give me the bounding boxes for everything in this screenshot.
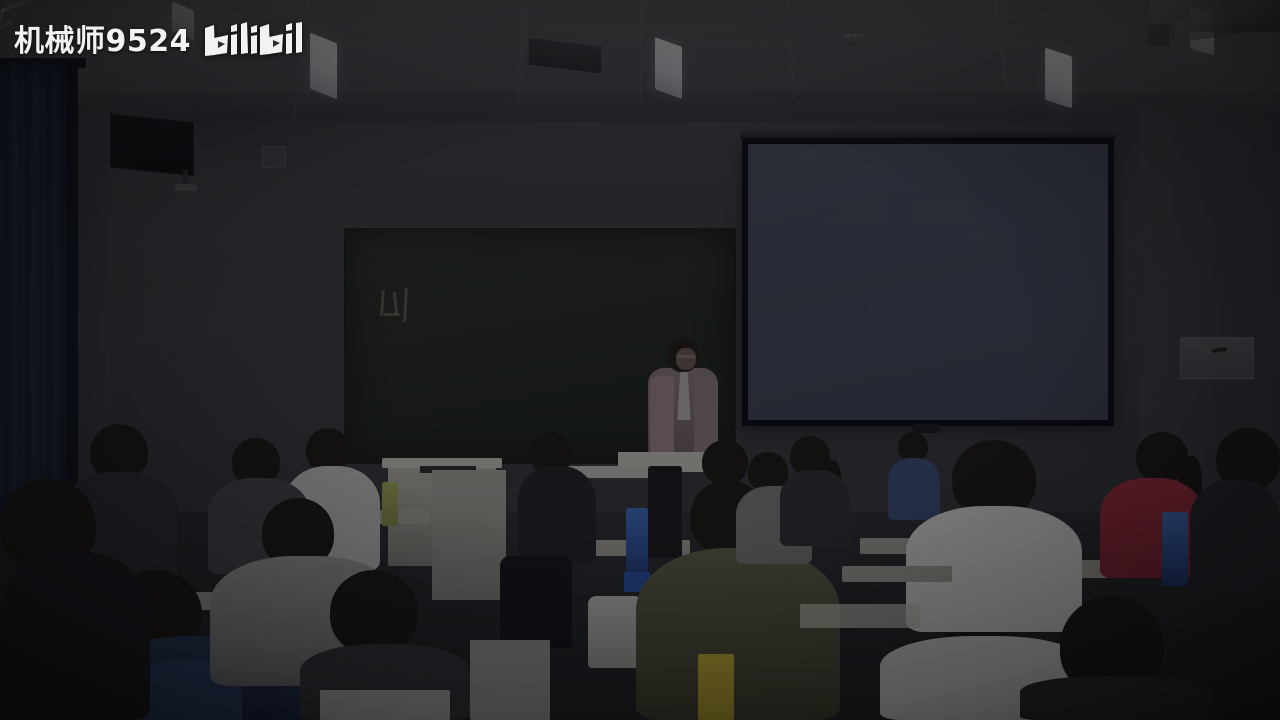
classroom-scene: [0, 0, 1280, 720]
student-desk: [320, 690, 450, 720]
student-dark-jacket: [518, 466, 596, 562]
student-dark-top: [1020, 676, 1210, 720]
screen-content-block: [802, 162, 830, 170]
yellow-cup: [698, 654, 734, 720]
screen-content-block: [800, 176, 822, 183]
video-frame: 机械师9524: [0, 0, 1280, 720]
dark-thermos: [648, 466, 682, 558]
student-head: [330, 570, 418, 654]
student-head: [702, 440, 748, 484]
wall-mounted-monitor: [110, 114, 194, 177]
student-dark-top: [780, 470, 850, 546]
screen-content-block: [898, 356, 938, 368]
student-desk: [800, 604, 920, 628]
glasses-icon: [677, 355, 695, 358]
student-dark-top: [1190, 480, 1280, 590]
screen-content-block: [866, 292, 888, 316]
blue-water-bottle: [626, 508, 648, 580]
window-curtain: [0, 62, 78, 514]
wall-box: [262, 146, 286, 168]
student-red-shirt: [1100, 478, 1204, 578]
student-dark-top: [0, 552, 150, 720]
screen-content-block: [794, 148, 858, 157]
screen-content-block: [824, 216, 850, 224]
ceiling-light-panel: [310, 33, 337, 100]
student-olive-jacket: [636, 548, 840, 720]
ceiling-light-panel: [655, 37, 682, 99]
teacher-vest: [650, 376, 674, 456]
screen-content-block: [916, 200, 978, 224]
student-desk: [470, 640, 550, 720]
green-water-bottle: [382, 482, 398, 526]
teacher-face: [676, 348, 696, 370]
lectern-side-panel: [432, 470, 506, 600]
student-desk: [842, 566, 952, 582]
duct-shadow: [1148, 24, 1170, 46]
ceiling-light-panel: [1045, 48, 1072, 109]
projection-screen: [748, 144, 1108, 420]
blue-water-bottle: [1162, 512, 1188, 586]
ceiling-seam: [640, 0, 642, 104]
monitor-base: [175, 184, 197, 191]
wall-sign: [1180, 337, 1254, 379]
screen-content-block: [1030, 240, 1060, 248]
screen-content-block: [970, 230, 1008, 244]
backpack: [500, 556, 572, 648]
student-blue-shirt: [888, 458, 940, 520]
